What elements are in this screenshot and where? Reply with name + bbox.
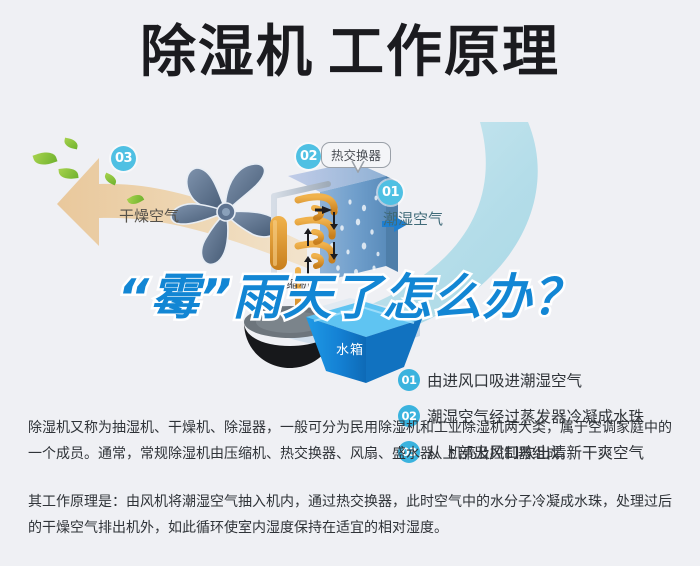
label-dry-air: 干燥空气	[119, 205, 179, 226]
body-copy: 除湿机又称为抽湿机、干燥机、除湿器，一般可分为民用除湿机和工业除湿机两大类，属于…	[28, 415, 676, 541]
label-compressor: 压缩机	[273, 275, 312, 292]
label-water-tank: 水箱	[336, 339, 364, 358]
dehumidifier-diagram: 03 02 01 干燥空气 潮湿空气 热交换器 压缩机 水箱 01 由进风口吸进…	[0, 120, 700, 405]
diagram-marker-02: 02	[296, 144, 321, 169]
step-text: 由进风口吸进潮湿空气	[427, 369, 582, 391]
title-part-2: 工作原理	[328, 20, 560, 85]
label-humid-air: 潮湿空气	[383, 208, 443, 229]
step-number: 01	[398, 369, 420, 391]
body-paragraph-2: 其工作原理是：由风机将潮湿空气抽入机内，通过热交换器，此时空气中的水分子冷凝成水…	[28, 489, 676, 541]
leaf-icon	[58, 167, 78, 180]
diagram-marker-01: 01	[378, 180, 403, 205]
body-paragraph-1: 除湿机又称为抽湿机、干燥机、除湿器，一般可分为民用除湿机和工业除湿机两大类，属于…	[28, 415, 676, 467]
leaf-icon	[33, 149, 58, 168]
callout-pointer-icon	[351, 161, 365, 173]
title-part-1: 除湿机	[140, 20, 314, 85]
list-item: 01 由进风口吸进潮湿空气	[398, 369, 688, 391]
page-title: 除湿机工作原理	[0, 24, 700, 83]
diagram-marker-03: 03	[111, 146, 136, 171]
infographic-page: 除湿机工作原理	[0, 0, 700, 566]
